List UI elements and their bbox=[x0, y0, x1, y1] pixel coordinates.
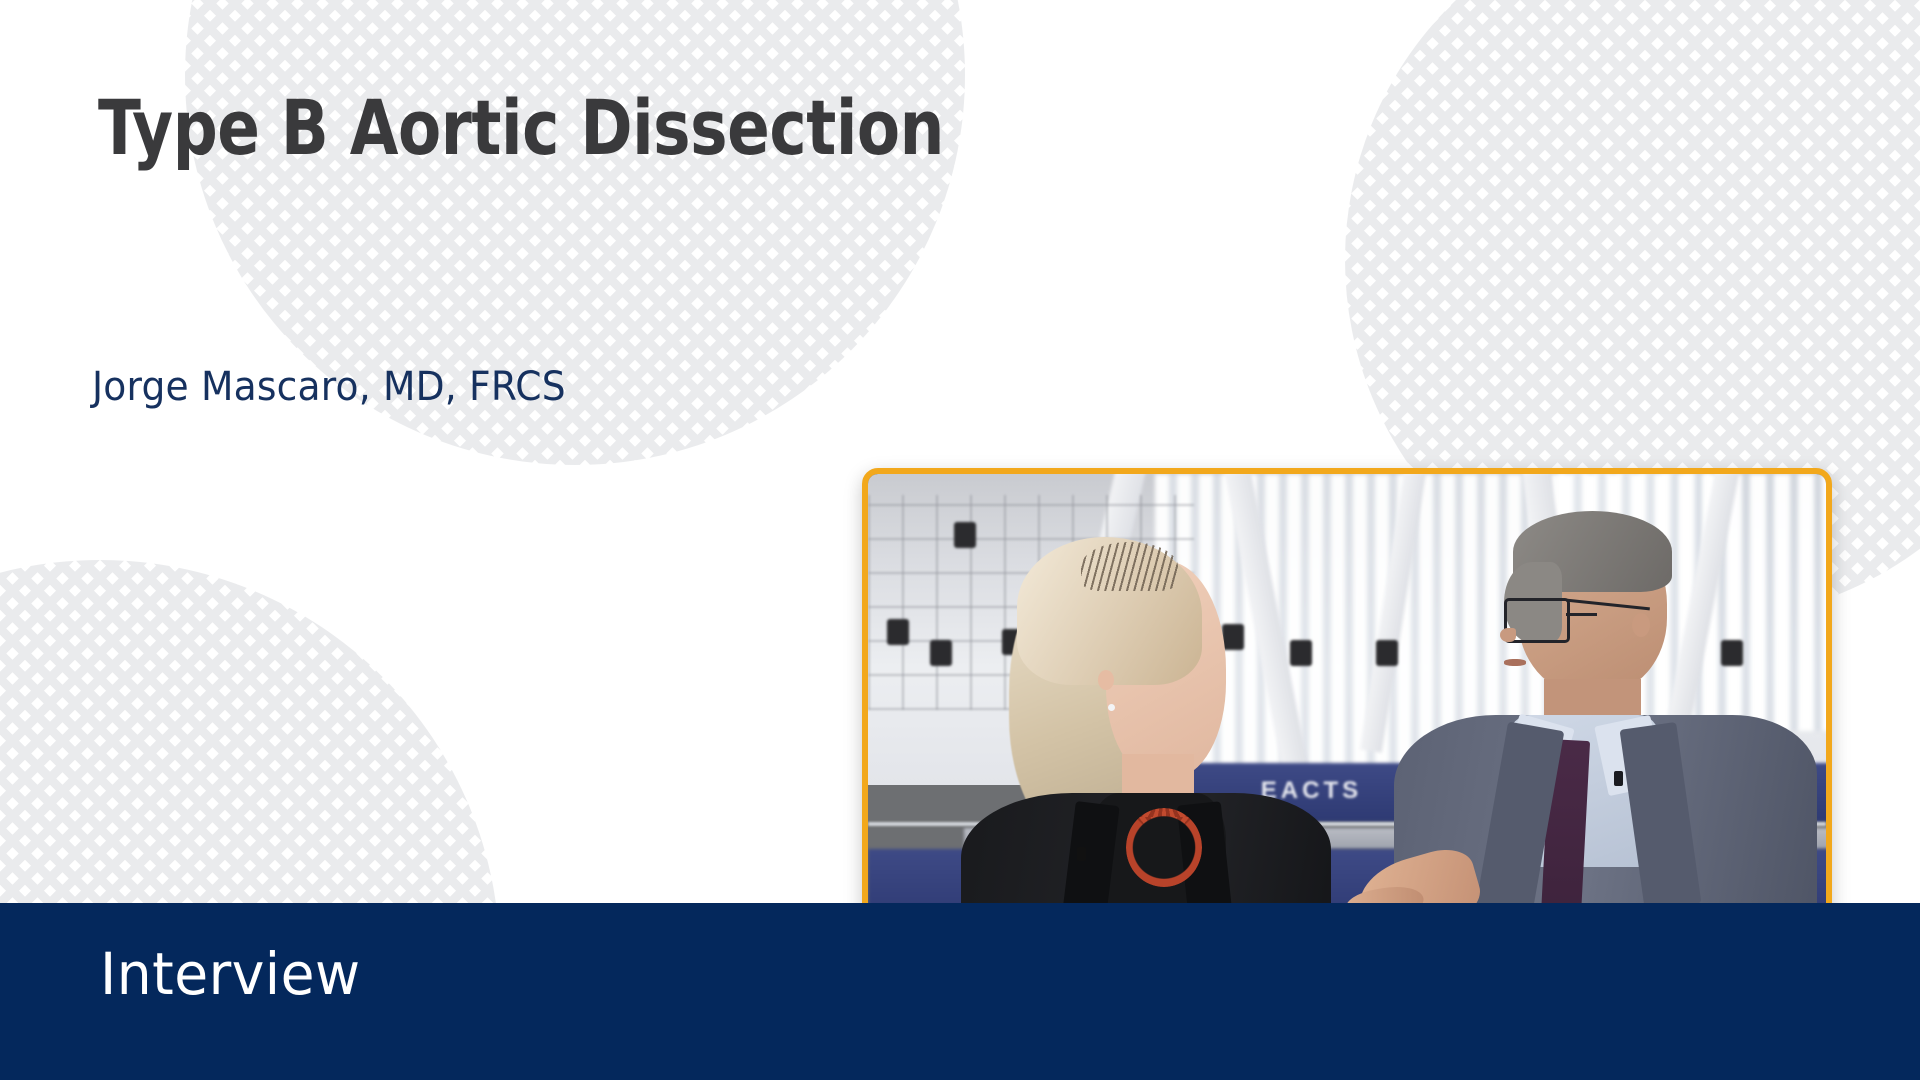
hair-highlight bbox=[1081, 542, 1178, 591]
footer-label: Interview bbox=[100, 940, 360, 1008]
beaded-necklace bbox=[1126, 808, 1202, 887]
mouth bbox=[1504, 659, 1526, 666]
speaker-name: Jorge Mascaro, MD, FRCS bbox=[92, 364, 566, 410]
presentation-slide: Type B Aortic Dissection Jorge Mascaro, … bbox=[0, 0, 1920, 1080]
slide-title: Type B Aortic Dissection bbox=[98, 88, 944, 168]
nose bbox=[1500, 628, 1516, 642]
ear bbox=[1098, 670, 1114, 690]
lapel-microphone-icon bbox=[1077, 847, 1086, 861]
ear bbox=[1632, 613, 1650, 637]
stage-light-icon bbox=[887, 619, 909, 645]
earring bbox=[1108, 704, 1115, 711]
lapel-microphone-icon bbox=[1614, 771, 1623, 786]
glasses-bridge-icon bbox=[1566, 613, 1597, 616]
